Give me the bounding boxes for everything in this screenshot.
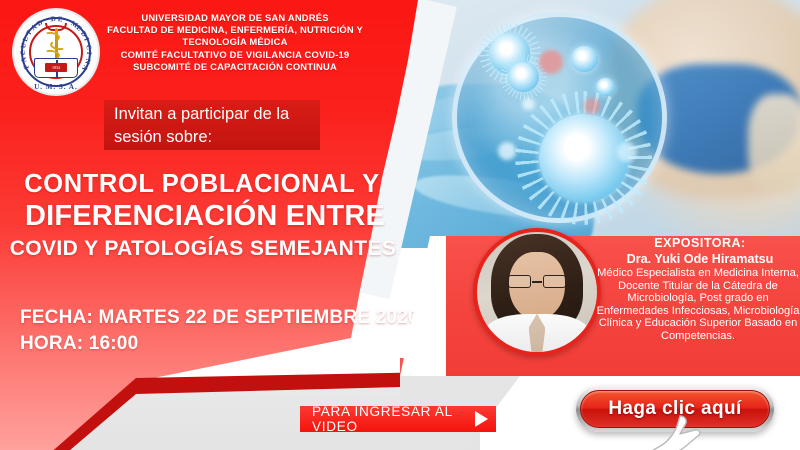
speaker-bio: Médico Especialista en Medicina Interna,… xyxy=(594,267,800,343)
event-schedule: FECHA: MARTES 22 DE SEPTIEMBRE 2020 HORA… xyxy=(20,305,419,357)
institution-line: COMITÉ FACULTATIVO DE VIGILANCIA COVID-1… xyxy=(104,49,366,61)
umsa-faculty-logo: 1834 U. M. S. A. FACULTAD DE MEDICINA xyxy=(12,8,100,96)
institution-line: UNIVERSIDAD MAYOR DE SAN ANDRÉS xyxy=(104,12,366,24)
virus-particle xyxy=(596,78,614,96)
video-access-banner: PARA INGRESAR AL VIDEO xyxy=(300,406,496,432)
petri-dish xyxy=(452,12,667,223)
title-line-1: CONTROL POBLACIONAL Y xyxy=(0,170,420,199)
red-blob xyxy=(584,98,600,114)
speaker-lab-coat xyxy=(484,314,590,356)
avatar xyxy=(473,228,601,356)
event-time: HORA: 16:00 xyxy=(20,331,419,357)
video-banner-label: PARA INGRESAR AL VIDEO xyxy=(300,404,496,434)
institution-header: UNIVERSIDAD MAYOR DE SAN ANDRÉS FACULTAD… xyxy=(104,12,366,73)
virus-particle xyxy=(571,46,598,72)
institution-line: TECNOLOGÍA MÉDICA xyxy=(104,36,366,48)
speaker-heading: EXPOSITORA: xyxy=(600,236,800,250)
pointing-hand-icon xyxy=(650,414,702,450)
light-blob xyxy=(498,142,516,160)
logo-ring-text: FACULTAD DE MEDICINA xyxy=(12,8,100,96)
invitation-text: Invitan a participar de la sesión sobre: xyxy=(104,100,320,150)
glasses-icon xyxy=(508,275,566,288)
mask-strap xyxy=(748,94,800,193)
institution-line: FACULTAD DE MEDICINA, ENFERMERÍA, NUTRIC… xyxy=(104,24,366,36)
title-line-2: DIFERENCIACIÓN ENTRE xyxy=(0,200,420,233)
speaker-name: Dra. Yuki Ode Hiramatsu xyxy=(598,252,800,266)
light-blob xyxy=(522,98,534,110)
virus-particle xyxy=(508,62,539,92)
red-blob xyxy=(539,50,564,74)
event-date: FECHA: MARTES 22 DE SEPTIEMBRE 2020 xyxy=(20,305,419,331)
light-blob xyxy=(617,142,638,162)
title-line-3: COVID Y PATOLOGÍAS SEMEJANTES xyxy=(0,237,420,261)
institution-line: SUBCOMITÉ DE CAPACITACIÓN CONTINUA xyxy=(104,61,366,73)
page-title: CONTROL POBLACIONAL Y DIFERENCIACIÓN ENT… xyxy=(0,170,420,261)
play-arrow-icon xyxy=(475,411,488,427)
webinar-poster: 1834 U. M. S. A. FACULTAD DE MEDICINA UN… xyxy=(0,0,800,450)
virus-particle xyxy=(539,114,629,202)
